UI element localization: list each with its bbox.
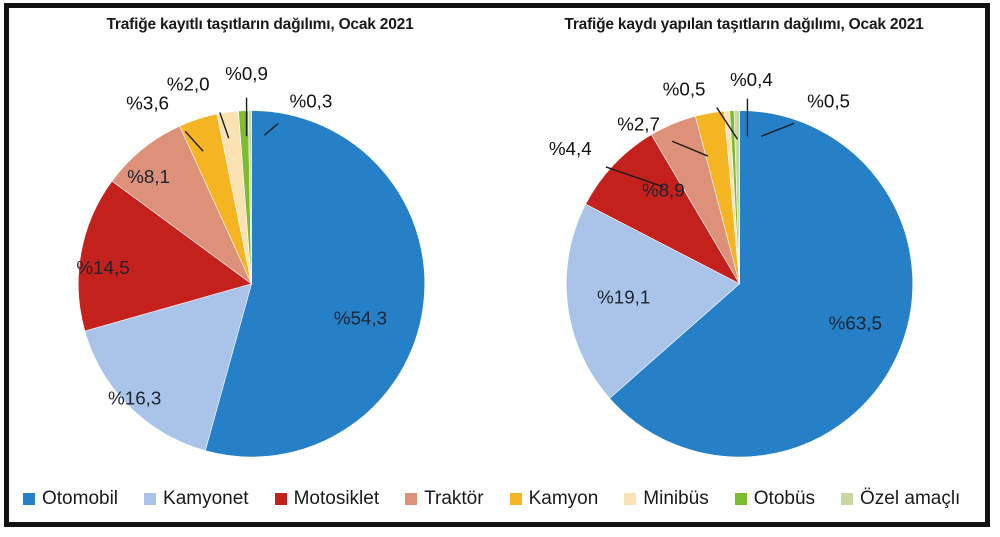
slice-label-motosiklet-2: %8,9 <box>642 180 685 201</box>
legend-item-motosiklet[interactable]: Motosiklet <box>275 488 380 510</box>
legend-item-otobus[interactable]: Otobüs <box>735 488 815 510</box>
pie-wrap-registered-vehicles: %54,3 %16,3 %14,5 %8,1 %3,6 %2,0 %0,9 %0… <box>9 34 497 486</box>
pie-chart-newly-registered-vehicles: %63,5 %19,1 %8,9 %4,4 %2,7 %0,5 %0,4 %0,… <box>497 34 985 486</box>
charts-row: Trafiğe kayıtlı taşıtların dağılımı, Oca… <box>9 8 985 486</box>
slice-label-kamyon-2: %2,7 <box>617 113 660 134</box>
legend-label-minibus: Minibüs <box>643 488 708 510</box>
chart-panel-newly-registered-vehicles: Trafiğe kaydı yapılan taşıtların dağılım… <box>497 8 985 486</box>
slice-label-traktor: %8,1 <box>127 166 170 187</box>
slice-label-kamyonet: %16,3 <box>108 388 161 409</box>
chart-panel-registered-vehicles: Trafiğe kayıtlı taşıtların dağılımı, Oca… <box>9 8 497 486</box>
legend-swatch-icon-traktor <box>405 493 417 505</box>
pie-wrap-newly-registered-vehicles: %63,5 %19,1 %8,9 %4,4 %2,7 %0,5 %0,4 %0,… <box>497 34 985 486</box>
legend-item-otomobil[interactable]: Otomobil <box>23 488 118 510</box>
slice-label-traktor-2: %4,4 <box>549 138 592 159</box>
legend-swatch-icon-kamyon <box>510 493 522 505</box>
legend-label-motosiklet: Motosiklet <box>294 488 380 510</box>
slice-label-otomobil-2: %63,5 <box>829 312 882 333</box>
legend-label-kamyonet: Kamyonet <box>163 488 249 510</box>
legend-label-ozel-amacli: Özel amaçlı <box>860 488 960 510</box>
chart-legend: Otomobil Kamyonet Motosiklet Traktör Kam… <box>9 476 985 522</box>
pie-slices-newly-registered <box>566 111 912 457</box>
legend-item-kamyon[interactable]: Kamyon <box>510 488 599 510</box>
legend-swatch-icon-minibus <box>624 493 636 505</box>
legend-item-traktor[interactable]: Traktör <box>405 488 483 510</box>
legend-swatch-icon-otobus <box>735 493 747 505</box>
slice-label-minibus: %2,0 <box>167 74 210 95</box>
slice-label-motosiklet: %14,5 <box>76 257 129 278</box>
chart-title-newly-registered-vehicles: Trafiğe kaydı yapılan taşıtların dağılım… <box>497 16 985 34</box>
figure-frame: Trafiğe kayıtlı taşıtların dağılımı, Oca… <box>4 3 990 527</box>
legend-swatch-icon-ozel-amacli <box>841 493 853 505</box>
legend-item-minibus[interactable]: Minibüs <box>624 488 708 510</box>
legend-label-traktor: Traktör <box>424 488 483 510</box>
legend-swatch-icon-kamyonet <box>144 493 156 505</box>
figure-inner: Trafiğe kayıtlı taşıtların dağılımı, Oca… <box>9 8 985 522</box>
legend-swatch-icon-motosiklet <box>275 493 287 505</box>
chart-title-registered-vehicles: Trafiğe kayıtlı taşıtların dağılımı, Oca… <box>9 16 497 34</box>
slice-label-ozel-amacli: %0,3 <box>289 91 332 112</box>
legend-label-otomobil: Otomobil <box>42 488 118 510</box>
pie-chart-registered-vehicles: %54,3 %16,3 %14,5 %8,1 %3,6 %2,0 %0,9 %0… <box>9 34 497 486</box>
slice-label-otomobil: %54,3 <box>334 307 387 328</box>
legend-item-kamyonet[interactable]: Kamyonet <box>144 488 249 510</box>
slice-label-otobus: %0,9 <box>225 63 268 84</box>
slice-label-kamyonet-2: %19,1 <box>597 287 650 308</box>
slice-label-minibus-2: %0,5 <box>663 79 706 100</box>
slice-label-ozel-amacli-2: %0,5 <box>807 91 850 112</box>
legend-label-otobus: Otobüs <box>754 488 815 510</box>
legend-label-kamyon: Kamyon <box>529 488 599 510</box>
legend-item-ozel-amacli[interactable]: Özel amaçlı <box>841 488 960 510</box>
legend-swatch-icon-otomobil <box>23 493 35 505</box>
slice-label-kamyon: %3,6 <box>126 93 169 114</box>
slice-label-otobus-2: %0,4 <box>730 69 773 90</box>
